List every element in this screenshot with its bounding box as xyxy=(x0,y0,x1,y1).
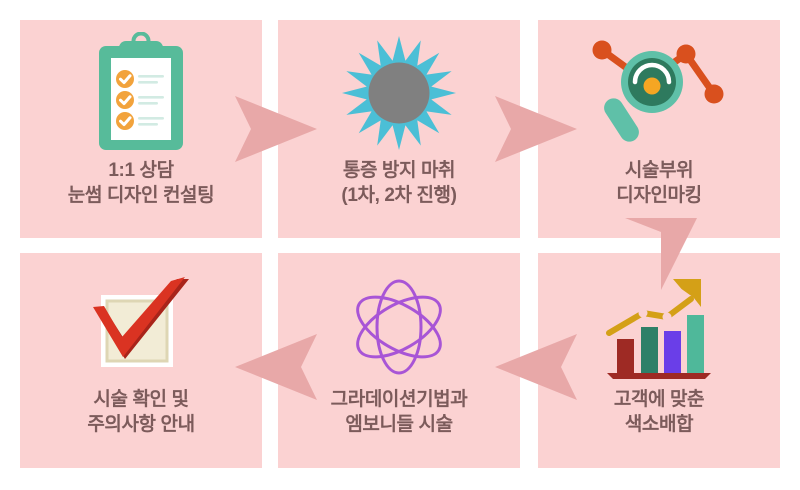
checkmark-box-icon xyxy=(20,267,262,387)
magnifier-graph-icon xyxy=(538,28,780,158)
flow-step-4[interactable]: 고객에 맞춘 색소배합 xyxy=(538,253,780,468)
flow-step-1-label: 1:1 상담 눈썸 디자인 컨설팅 xyxy=(20,158,262,208)
flow-step-5[interactable]: 그라데이션기법과 엠보니들 시술 xyxy=(278,253,520,468)
process-flow-diagram: 1:1 상담 눈썸 디자인 컨설팅 xyxy=(0,0,800,490)
flow-step-3[interactable]: 시술부위 디자인마킹 xyxy=(538,20,780,238)
flow-step-6[interactable]: 시술 확인 및 주의사항 안내 xyxy=(20,253,262,468)
flow-step-5-label: 그라데이션기법과 엠보니들 시술 xyxy=(278,387,520,437)
flow-step-6-label: 시술 확인 및 주의사항 안내 xyxy=(20,387,262,437)
bar-chart-growth-icon xyxy=(538,267,780,387)
flow-step-2-label: 통증 방지 마취 (1차, 2차 진행) xyxy=(278,158,520,208)
flow-step-1[interactable]: 1:1 상담 눈썸 디자인 컨설팅 xyxy=(20,20,262,238)
flow-step-4-label: 고객에 맞춘 색소배합 xyxy=(538,387,780,437)
flow-step-2[interactable]: 통증 방지 마취 (1차, 2차 진행) xyxy=(278,20,520,238)
sun-anesthesia-icon xyxy=(278,28,520,158)
atom-orbit-icon xyxy=(278,267,520,387)
flow-step-3-label: 시술부위 디자인마킹 xyxy=(538,158,780,208)
clipboard-checklist-icon xyxy=(20,28,262,158)
